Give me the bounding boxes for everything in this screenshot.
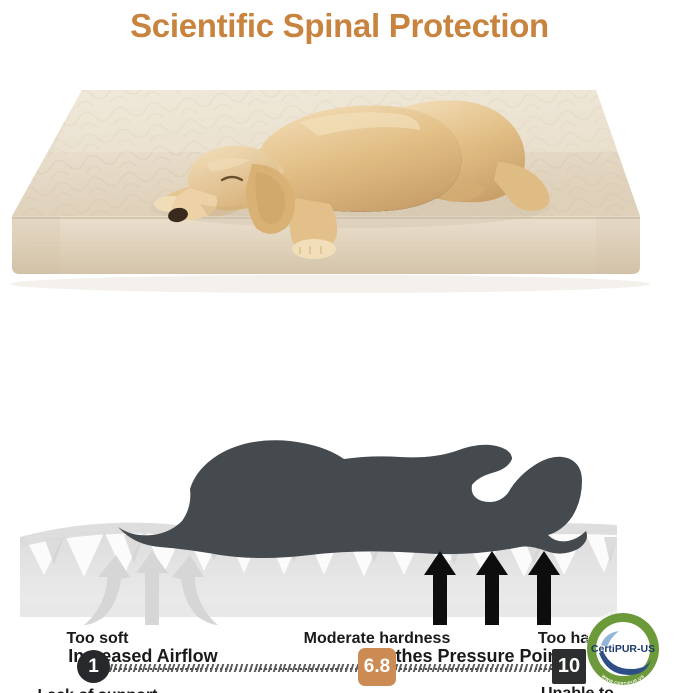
dog-silhouette	[118, 440, 587, 558]
scale-left-bottom-label: Lack of support	[0, 687, 195, 693]
pressure-point-arrows	[424, 551, 560, 625]
product-photo	[0, 52, 679, 302]
hardness-scale: Too soft 1 Lack of support Moderate hard…	[0, 310, 679, 418]
scale-track	[100, 667, 580, 670]
scale-marker-68[interactable]: 6.8	[358, 648, 396, 686]
certipur-badge-illustration: CertiPUR-US COMPLIANCE CERTIFIED FLEXIBL…	[577, 607, 669, 687]
certipur-wordmark: CertiPUR-US	[591, 643, 655, 655]
scale-marker-1[interactable]: 1	[77, 650, 110, 683]
product-photo-illustration	[0, 52, 679, 302]
scale-marker-10[interactable]: 10	[552, 649, 586, 684]
infographic-page: Scientific Spinal Protection	[0, 0, 679, 693]
certipur-us-badge: CertiPUR-US COMPLIANCE CERTIFIED FLEXIBL…	[577, 607, 669, 687]
foam-diagram-illustration	[0, 425, 679, 625]
foam-cross-section-diagram	[0, 425, 679, 625]
airflow-caption: Increased Airflow	[20, 646, 266, 667]
page-title: Scientific Spinal Protection	[0, 0, 679, 52]
